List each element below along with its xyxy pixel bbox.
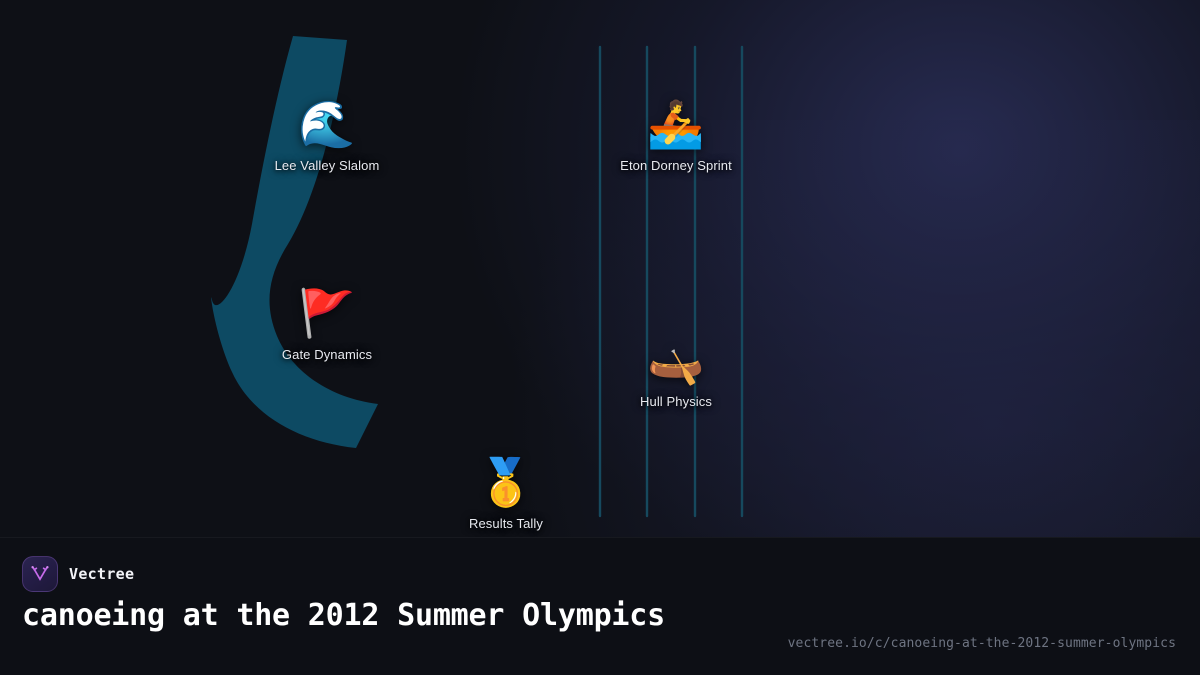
graph-canvas[interactable]: 🌊 Lee Valley Slalom 🚣 Eton Dorney Sprint… bbox=[0, 0, 1200, 540]
brand-name: Vectree bbox=[69, 565, 134, 583]
canoe-icon: 🛶 bbox=[581, 332, 771, 388]
node-hull-physics[interactable]: 🛶 Hull Physics bbox=[581, 332, 771, 409]
node-label: Eton Dorney Sprint bbox=[581, 158, 771, 173]
vectree-logo-icon bbox=[22, 556, 58, 592]
node-eton-dorney-sprint[interactable]: 🚣 Eton Dorney Sprint bbox=[581, 96, 771, 173]
page-root: 🌊 Lee Valley Slalom 🚣 Eton Dorney Sprint… bbox=[0, 0, 1200, 675]
footer-bar: Vectree canoeing at the 2012 Summer Olym… bbox=[0, 537, 1200, 675]
node-label: Lee Valley Slalom bbox=[232, 158, 422, 173]
node-gate-dynamics[interactable]: 🚩 Gate Dynamics bbox=[232, 285, 422, 362]
page-url: vectree.io/c/canoeing-at-the-2012-summer… bbox=[788, 636, 1176, 651]
triangular-flag-icon: 🚩 bbox=[232, 285, 422, 341]
node-label: Gate Dynamics bbox=[232, 347, 422, 362]
node-label: Hull Physics bbox=[581, 394, 771, 409]
node-label: Results Tally bbox=[411, 516, 601, 531]
gold-medal-icon: 🥇 bbox=[411, 454, 601, 510]
page-title: canoeing at the 2012 Summer Olympics bbox=[22, 600, 722, 632]
rowboat-icon: 🚣 bbox=[581, 96, 771, 152]
brand-lockup[interactable]: Vectree bbox=[22, 556, 134, 592]
node-results-tally[interactable]: 🥇 Results Tally bbox=[411, 454, 601, 531]
node-lee-valley-slalom[interactable]: 🌊 Lee Valley Slalom bbox=[232, 96, 422, 173]
wave-icon: 🌊 bbox=[232, 96, 422, 152]
